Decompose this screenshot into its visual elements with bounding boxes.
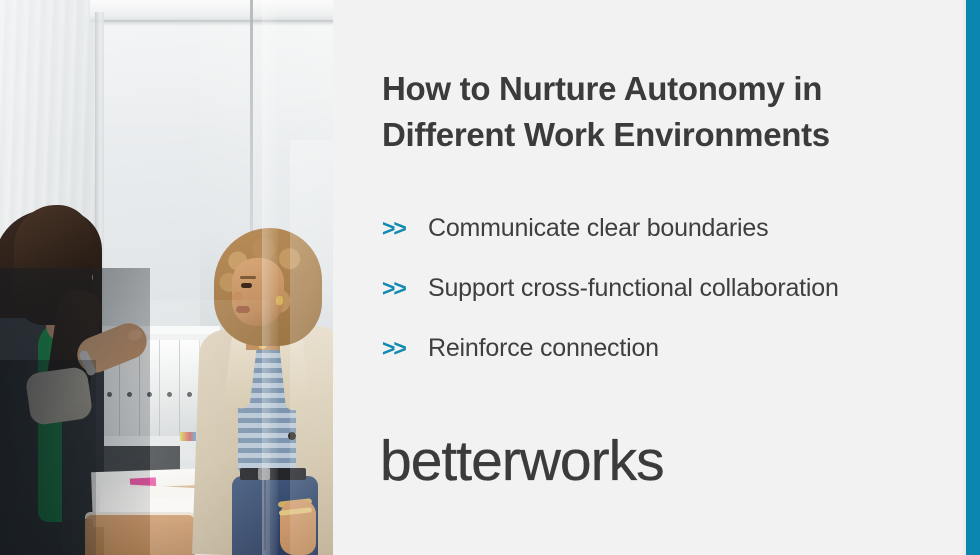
chevron-double-right-icon: >> <box>382 333 428 363</box>
page-title-line-1: How to Nurture Autonomy in <box>382 70 822 107</box>
betterworks-wordmark-icon: betterworks <box>380 432 720 494</box>
slide-canvas: How to Nurture Autonomy in Different Wor… <box>0 0 980 555</box>
ceiling-shadow <box>95 20 333 26</box>
bullet-list: >> Communicate clear boundaries >> Suppo… <box>382 213 952 393</box>
betterworks-wordmark-text: betterworks <box>380 432 664 493</box>
chevron-double-right-icon: >> <box>382 213 428 243</box>
list-item: >> Communicate clear boundaries <box>382 213 952 273</box>
list-item-label: Reinforce connection <box>428 333 952 363</box>
page-title: How to Nurture Autonomy in Different Wor… <box>382 66 927 158</box>
photo-stage <box>0 0 333 555</box>
glass-reflection-streak <box>150 300 270 555</box>
page-title-line-2: Different Work Environments <box>382 116 830 153</box>
woman-right-eyebrow <box>240 276 256 279</box>
list-item: >> Reinforce connection <box>382 333 952 393</box>
glass-reflection-highlight <box>290 140 333 555</box>
chevron-double-right-icon: >> <box>382 273 428 303</box>
woman-right-eye <box>241 283 252 288</box>
list-item-label: Support cross-functional collaboration <box>428 273 952 303</box>
list-item: >> Support cross-functional collaboratio… <box>382 273 952 333</box>
accent-strip <box>966 0 980 555</box>
glass-reflection-dark-edge <box>0 360 96 555</box>
hero-photo <box>0 0 333 555</box>
ceiling-band <box>90 0 333 22</box>
content-panel: How to Nurture Autonomy in Different Wor… <box>333 0 966 555</box>
glass-reflection-band <box>262 0 278 555</box>
list-item-label: Communicate clear boundaries <box>428 213 952 243</box>
betterworks-logo: betterworks <box>380 432 720 494</box>
